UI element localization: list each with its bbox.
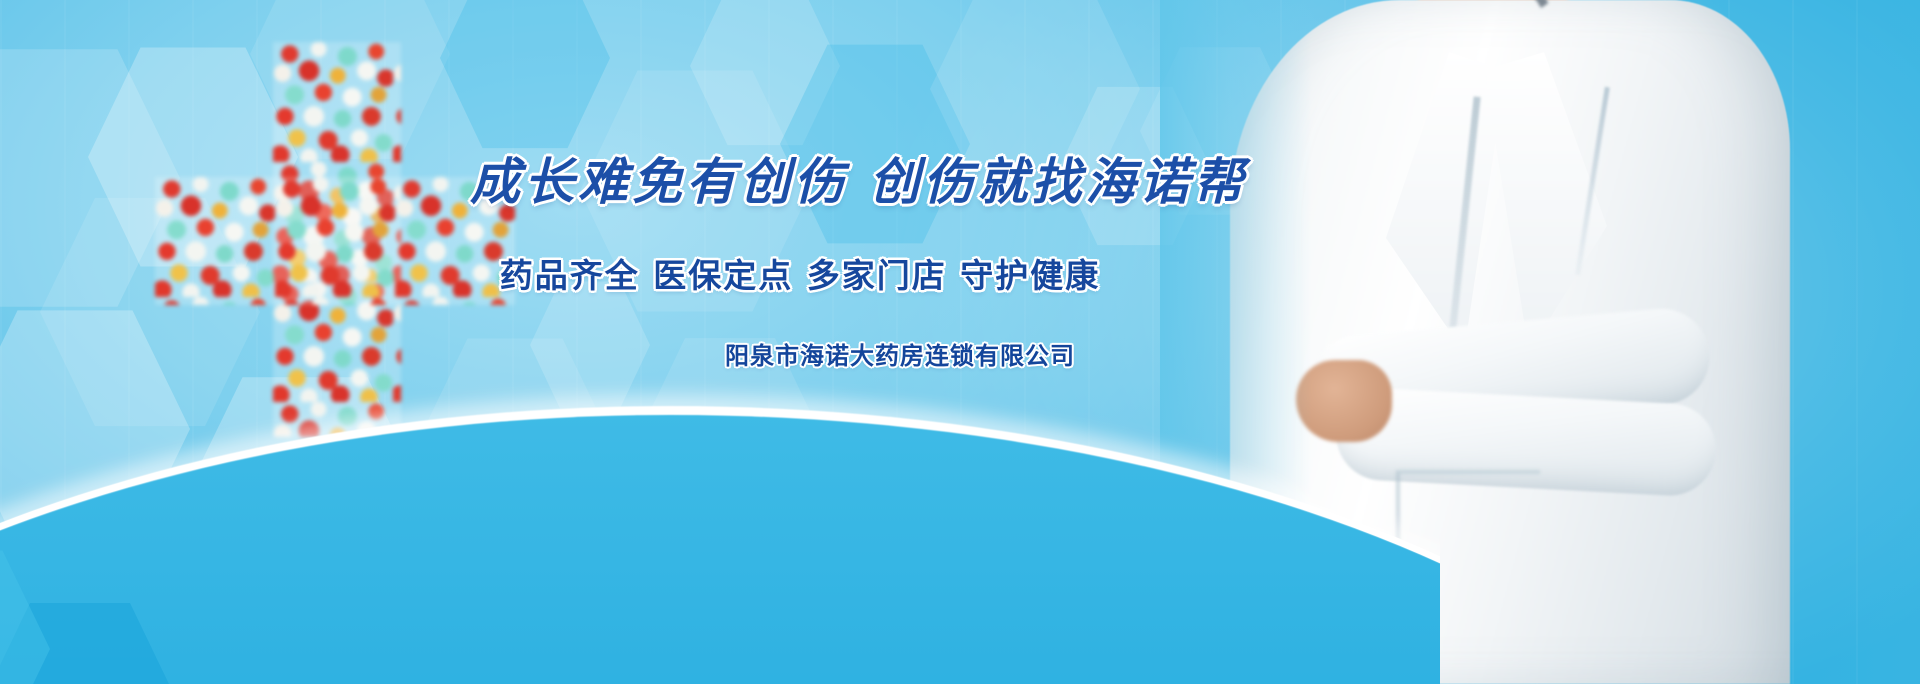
- banner-headline: 成长难免有创伤 创伤就找海诺帮: [470, 142, 1130, 214]
- stethoscope-icon: [1396, 0, 1586, 250]
- pill-cross-horizontal-arm: [155, 177, 515, 305]
- company-name: 阳泉市海诺大药房连锁有限公司: [570, 336, 1230, 371]
- pharmacy-hero-banner: 成长难免有创伤 创伤就找海诺帮 药品齐全 医保定点 多家门店 守护健康 阳泉市海…: [0, 0, 1920, 684]
- banner-subline: 药品齐全 医保定点 多家门店 守护健康: [470, 249, 1130, 297]
